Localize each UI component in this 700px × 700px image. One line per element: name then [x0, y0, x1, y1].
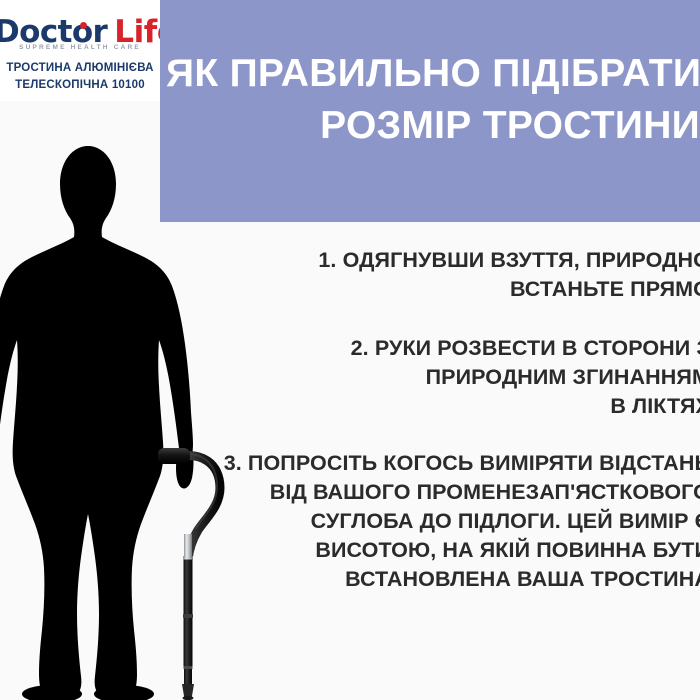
instruction-3-line-5: ВСТАНОВЛЕНА ВАША ТРОСТИНА — [200, 565, 700, 594]
brand-logo-panel: DoctorLife SUPREME HEALTH CARE ТРОСТИНА … — [0, 0, 160, 101]
instruction-1-line-2: ВСТАНЬТЕ ПРЯМО — [200, 275, 700, 304]
instruction-item-1: 1. ОДЯГНУВШИ ВЗУТТЯ, ПРИРОДНО ВСТАНЬТЕ П… — [200, 246, 700, 304]
product-name-line-2: ТЕЛЕСКОПІЧНА 10100 — [0, 77, 160, 94]
instruction-3-line-3: СУГЛОБА ДО ПІДЛОГИ. ЦЕЙ ВИМІР Є — [200, 507, 700, 536]
instruction-3-line-1: 3. ПОПРОСІТЬ КОГОСЬ ВИМІРЯТИ ВІДСТАНЬ — [200, 449, 700, 478]
instruction-2-line-1: 2. РУКИ РОЗВЕСТИ В СТОРОНИ З — [200, 334, 700, 363]
instruction-item-2: 2. РУКИ РОЗВЕСТИ В СТОРОНИ З ПРИРОДНИМ З… — [200, 334, 700, 421]
instruction-2-line-3: В ЛІКТЯХ — [200, 392, 700, 421]
brand-wordmark: DoctorLife — [0, 14, 160, 48]
instruction-3-line-4: ВИСОТОЮ, НА ЯКІЙ ПОВИННА БУТИ — [200, 536, 700, 565]
poster-canvas: ЯК ПРАВИЛЬНО ПІДІБРАТИ РОЗМІР ТРОСТИНИ — [0, 0, 700, 700]
brand-tagline: SUPREME HEALTH CARE — [0, 44, 160, 51]
banner-title-line-1: ЯК ПРАВИЛЬНО ПІДІБРАТИ — [166, 48, 700, 99]
instruction-item-3: 3. ПОПРОСІТЬ КОГОСЬ ВИМІРЯТИ ВІДСТАНЬ ВІ… — [200, 449, 700, 594]
instruction-1-line-1: 1. ОДЯГНУВШИ ВЗУТТЯ, ПРИРОДНО — [200, 246, 700, 275]
product-name: ТРОСТИНА АЛЮМІНІЄВА ТЕЛЕСКОПІЧНА 10100 — [0, 60, 160, 94]
banner-title-line-2: РОЗМІР ТРОСТИНИ — [160, 100, 700, 151]
instruction-list: 1. ОДЯГНУВШИ ВЗУТТЯ, ПРИРОДНО ВСТАНЬТЕ П… — [200, 246, 700, 594]
logo-red-dot-icon — [80, 22, 87, 29]
instruction-3-line-2: ВІД ВАШОГО ПРОМЕНЕЗАП'ЯСТКОВОГО — [200, 478, 700, 507]
instruction-2-line-2: ПРИРОДНИМ ЗГИНАННЯМ — [200, 363, 700, 392]
title-banner: ЯК ПРАВИЛЬНО ПІДІБРАТИ РОЗМІР ТРОСТИНИ — [160, 0, 700, 222]
product-name-line-1: ТРОСТИНА АЛЮМІНІЄВА — [0, 60, 160, 77]
